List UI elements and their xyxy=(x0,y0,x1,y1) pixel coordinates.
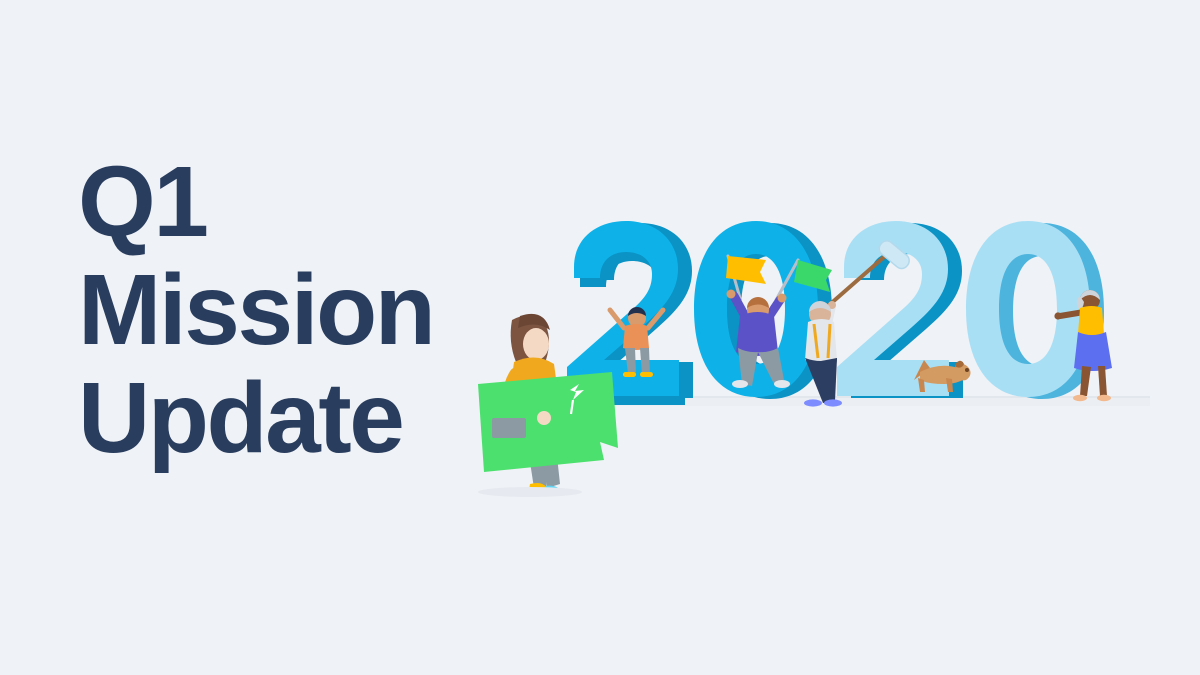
title-line-3: Update xyxy=(78,364,508,472)
slide-canvas: Q1 Mission Update xyxy=(0,0,1200,675)
illustration-svg xyxy=(470,200,1150,530)
page-title: Q1 Mission Update xyxy=(78,148,508,472)
card-chip-icon xyxy=(492,418,526,438)
hero-illustration xyxy=(470,200,1150,530)
title-line-1: Q1 xyxy=(78,148,508,256)
title-line-2: Mission xyxy=(78,256,508,364)
shadow-woman-card xyxy=(478,487,582,497)
